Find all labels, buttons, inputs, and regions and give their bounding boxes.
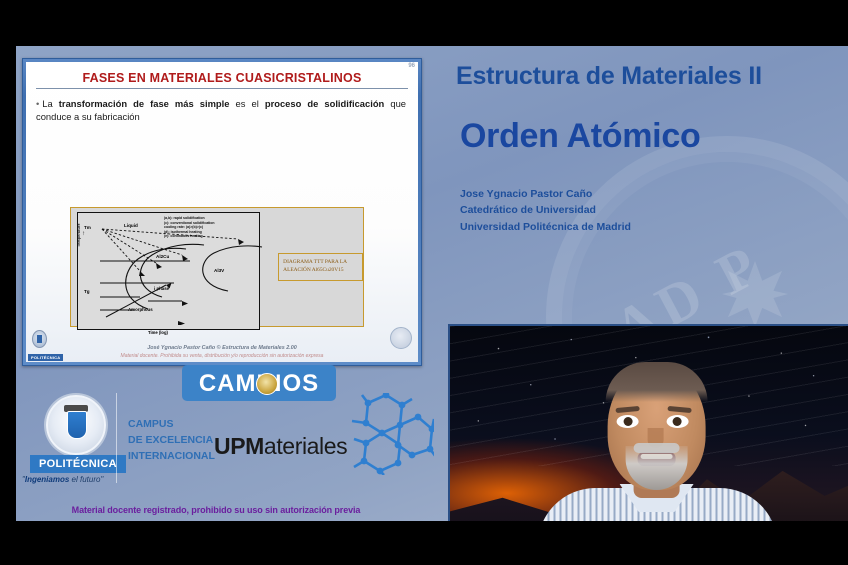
politecnica-tag: POLITÉCNICA [30,455,126,473]
campus-line-2: DE EXCELENCIA [128,433,215,449]
ttt-curves [78,213,264,325]
caption-line-1: DIAGRAMA TTT PARA LA [283,259,358,267]
bullet-bold-1: transformación de fase más simple [59,98,230,109]
presenter-hair [606,362,708,402]
presenter-webcam-panel[interactable] [448,324,848,521]
author-block: Jose Ygnacio Pastor Caño Catedrático de … [460,186,838,235]
motto-rest: el futuro [69,475,100,484]
upmateriales-bold: UPM [214,433,264,459]
presenter-pupil-right [673,417,682,426]
disclaimer-text: Material docente registrado, prohibido s… [16,505,416,515]
presenter-moustache [634,443,680,453]
slide-politecnica-badge: POLITÉCNICA [28,354,63,361]
caminos-seal-icon [256,373,278,395]
slide-window[interactable]: 96 FASES EN MATERIALES CUASICRISTALINOS … [22,58,422,366]
upmateriales-logo: UPMateriales [214,433,347,460]
presenter-figure [542,344,772,521]
bullet-bold-2: proceso de solidificación [265,98,384,109]
campus-line-3: INTERNACIONAL [128,449,215,465]
screen: DAD P 96 FASES EN MATERIALES CUASICRISTA… [0,0,848,565]
bullet-text-1: La [42,98,59,109]
upmateriales-rest: ateriales [264,433,347,459]
title-divider [36,88,408,89]
slide-page-number: 96 [408,63,415,69]
slide-bullet: •La transformación de fase más simple es… [36,97,406,124]
author-name: Jose Ygnacio Pastor Caño [460,186,838,202]
slide-content: 96 FASES EN MATERIALES CUASICRISTALINOS … [26,62,418,362]
x-axis-label: Time (log) [148,330,168,335]
ttt-figure: ↑ Temperature Tm Tg Liquid Al2Cu Al3V i … [70,207,364,327]
author-role: Catedrático de Universidad [460,202,838,218]
logo-divider [116,393,117,483]
logo-strip: POLITÉCNICA "Ingeniamos el futuro" CAMPU… [16,371,416,521]
title-block: Estructura de Materiales II Orden Atómic… [448,62,838,235]
politecnica-motto: "Ingeniamos el futuro" [22,475,103,484]
slide-footer-credit: José Ygnacio Pastor Caño © Estructura de… [26,345,418,351]
slide-title: FASES EN MATERIALES CUASICRISTALINOS [40,71,404,85]
upm-crest-icon [46,395,106,455]
campus-excelencia-text: CAMPUS DE EXCELENCIA INTERNACIONAL [128,417,215,464]
course-title: Estructura de Materiales II [456,62,838,91]
ttt-caption: DIAGRAMA TTT PARA LA ALEACIÓN Al65Cu20V1… [278,253,363,281]
bullet-text-2: es el [229,98,264,109]
hexagon-network-icon [338,393,434,475]
caption-line-2: ALEACIÓN Al65Cu20V15 [283,267,358,275]
slide-footer-legal: Material docente. Prohibida su venta, di… [26,353,418,359]
author-org: Universidad Politécnica de Madrid [460,219,838,235]
presenter-pupil-left [624,417,633,426]
campus-line-1: CAMPUS [128,417,215,433]
ttt-plot-area: ↑ Temperature Tm Tg Liquid Al2Cu Al3V i … [77,212,260,330]
bullet-marker: • [36,98,39,109]
presentation-canvas: DAD P 96 FASES EN MATERIALES CUASICRISTA… [16,46,848,521]
motto-bold: Ingeniamos [25,475,69,484]
topic-title: Orden Atómico [460,117,838,156]
caminos-logo: CAMINOS [182,365,336,401]
crest-shield-icon [67,411,87,439]
